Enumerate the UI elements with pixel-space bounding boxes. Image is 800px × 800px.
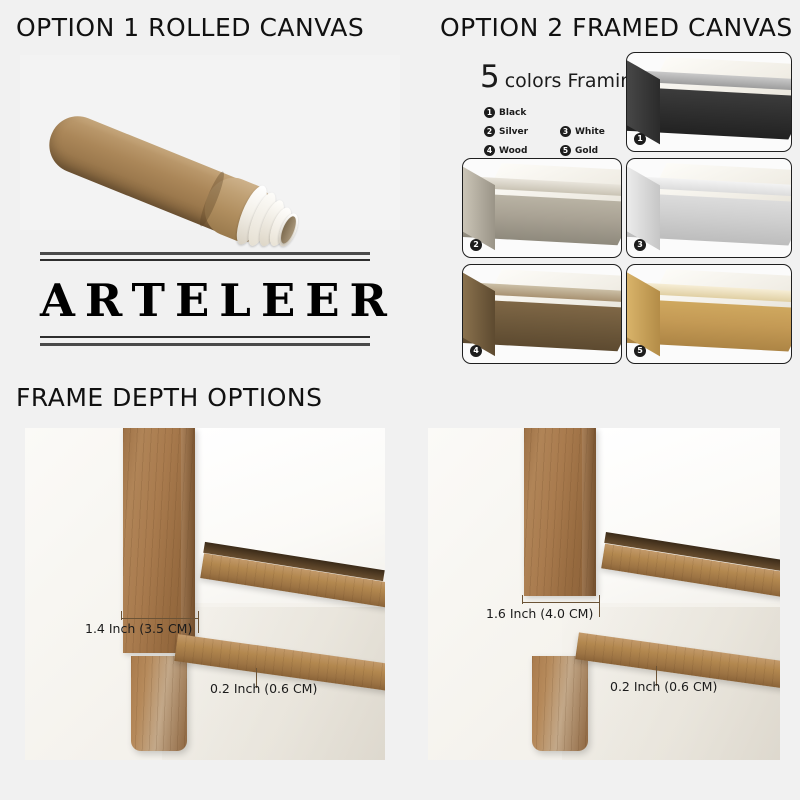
dimension-tick xyxy=(522,595,523,604)
frame-corner-illustration xyxy=(627,53,791,151)
legend-label-3: White xyxy=(575,127,605,137)
legend-item-wood: 4 Wood xyxy=(484,145,546,156)
frame-depth-label-left: 1.4 Inch (3.5 CM) xyxy=(85,621,192,636)
swatch-number-5: 5 xyxy=(634,345,646,357)
logo-rule-bottom-thick xyxy=(40,343,370,346)
dimension-tick xyxy=(121,611,122,620)
frame-vertical-stile xyxy=(524,428,596,596)
legend-badge-5: 5 xyxy=(560,145,571,156)
legend-item-silver: 2 Silver xyxy=(484,126,546,137)
dimension-tick xyxy=(198,611,199,633)
frame-swatch-black[interactable]: 1 xyxy=(626,52,792,152)
frame-depth-label-right: 1.6 Inch (4.0 CM) xyxy=(486,606,593,621)
legend-row: 2 Silver 3 White xyxy=(484,126,634,137)
frame-depth-heading: FRAME DEPTH OPTIONS xyxy=(16,383,322,412)
dimension-tick xyxy=(121,618,199,619)
wood-grain xyxy=(532,656,588,751)
swatch-number-3: 3 xyxy=(634,239,646,251)
logo-rule-bottom-thin xyxy=(40,336,370,338)
color-legend: 1 Black 2 Silver 3 White 4 Wood xyxy=(484,107,634,164)
colors-count-text: colors Framing xyxy=(505,72,645,91)
frame-corner-illustration xyxy=(627,265,791,363)
swatch-number-2: 2 xyxy=(470,239,482,251)
dimension-tick xyxy=(522,602,600,603)
frame-swatch-white[interactable]: 3 xyxy=(626,158,792,258)
swatch-number-1: 1 xyxy=(634,133,646,145)
option-2-heading: OPTION 2 FRAMED CANVAS xyxy=(440,13,793,42)
infographic-page: OPTION 1 ROLLED CANVAS ARTELEER OPTION 2… xyxy=(0,0,800,800)
legend-label-1: Black xyxy=(499,108,526,118)
dimension-tick xyxy=(599,595,600,617)
legend-row: 1 Black xyxy=(484,107,634,118)
frame-depth-photo-left: 1.4 Inch (3.5 CM) 0.2 Inch (0.6 CM) xyxy=(25,428,385,760)
legend-item-black: 1 Black xyxy=(484,107,546,118)
wood-grain xyxy=(131,656,187,751)
colors-count-label: 5 colors Framing xyxy=(480,62,644,93)
logo-rule-top-thin xyxy=(40,259,370,261)
legend-badge-3: 3 xyxy=(560,126,571,137)
swatch-number-4: 4 xyxy=(470,345,482,357)
rail-corner xyxy=(532,656,588,751)
frame-depth-photo-right: 1.6 Inch (4.0 CM) 0.2 Inch (0.6 CM) xyxy=(428,428,780,760)
legend-badge-2: 2 xyxy=(484,126,495,137)
legend-label-5: Gold xyxy=(575,146,598,156)
legend-item-gold: 5 Gold xyxy=(560,145,622,156)
legend-badge-4: 4 xyxy=(484,145,495,156)
frame-swatch-gold[interactable]: 5 xyxy=(626,264,792,364)
wood-grain xyxy=(123,428,195,653)
legend-item-white: 3 White xyxy=(560,126,622,137)
frame-corner-illustration xyxy=(463,159,621,257)
logo-rule-top-thick xyxy=(40,252,370,255)
framing-options-panel: 5 colors Framing 1 Black 2 Silver 3 Whit… xyxy=(440,52,792,362)
colors-count-number: 5 xyxy=(480,62,500,93)
brand-name: ARTELEER xyxy=(40,272,370,330)
rail-depth-label-left: 0.2 Inch (0.6 CM) xyxy=(210,681,317,696)
legend-label-2: Silver xyxy=(499,127,528,137)
rail-corner xyxy=(131,656,187,751)
rolled-canvas-photo xyxy=(20,55,400,230)
frame-corner-illustration xyxy=(463,265,621,363)
wood-grain xyxy=(524,428,596,596)
frame-corner-illustration xyxy=(627,159,791,257)
option-1-heading: OPTION 1 ROLLED CANVAS xyxy=(16,13,364,42)
legend-row: 4 Wood 5 Gold xyxy=(484,145,634,156)
brand-logo-block: ARTELEER xyxy=(40,250,370,355)
legend-badge-1: 1 xyxy=(484,107,495,118)
legend-label-4: Wood xyxy=(499,146,527,156)
frame-swatch-silver[interactable]: 2 xyxy=(462,158,622,258)
frame-vertical-stile xyxy=(123,428,195,653)
rail-depth-label-right: 0.2 Inch (0.6 CM) xyxy=(610,679,717,694)
frame-swatch-wood[interactable]: 4 xyxy=(462,264,622,364)
